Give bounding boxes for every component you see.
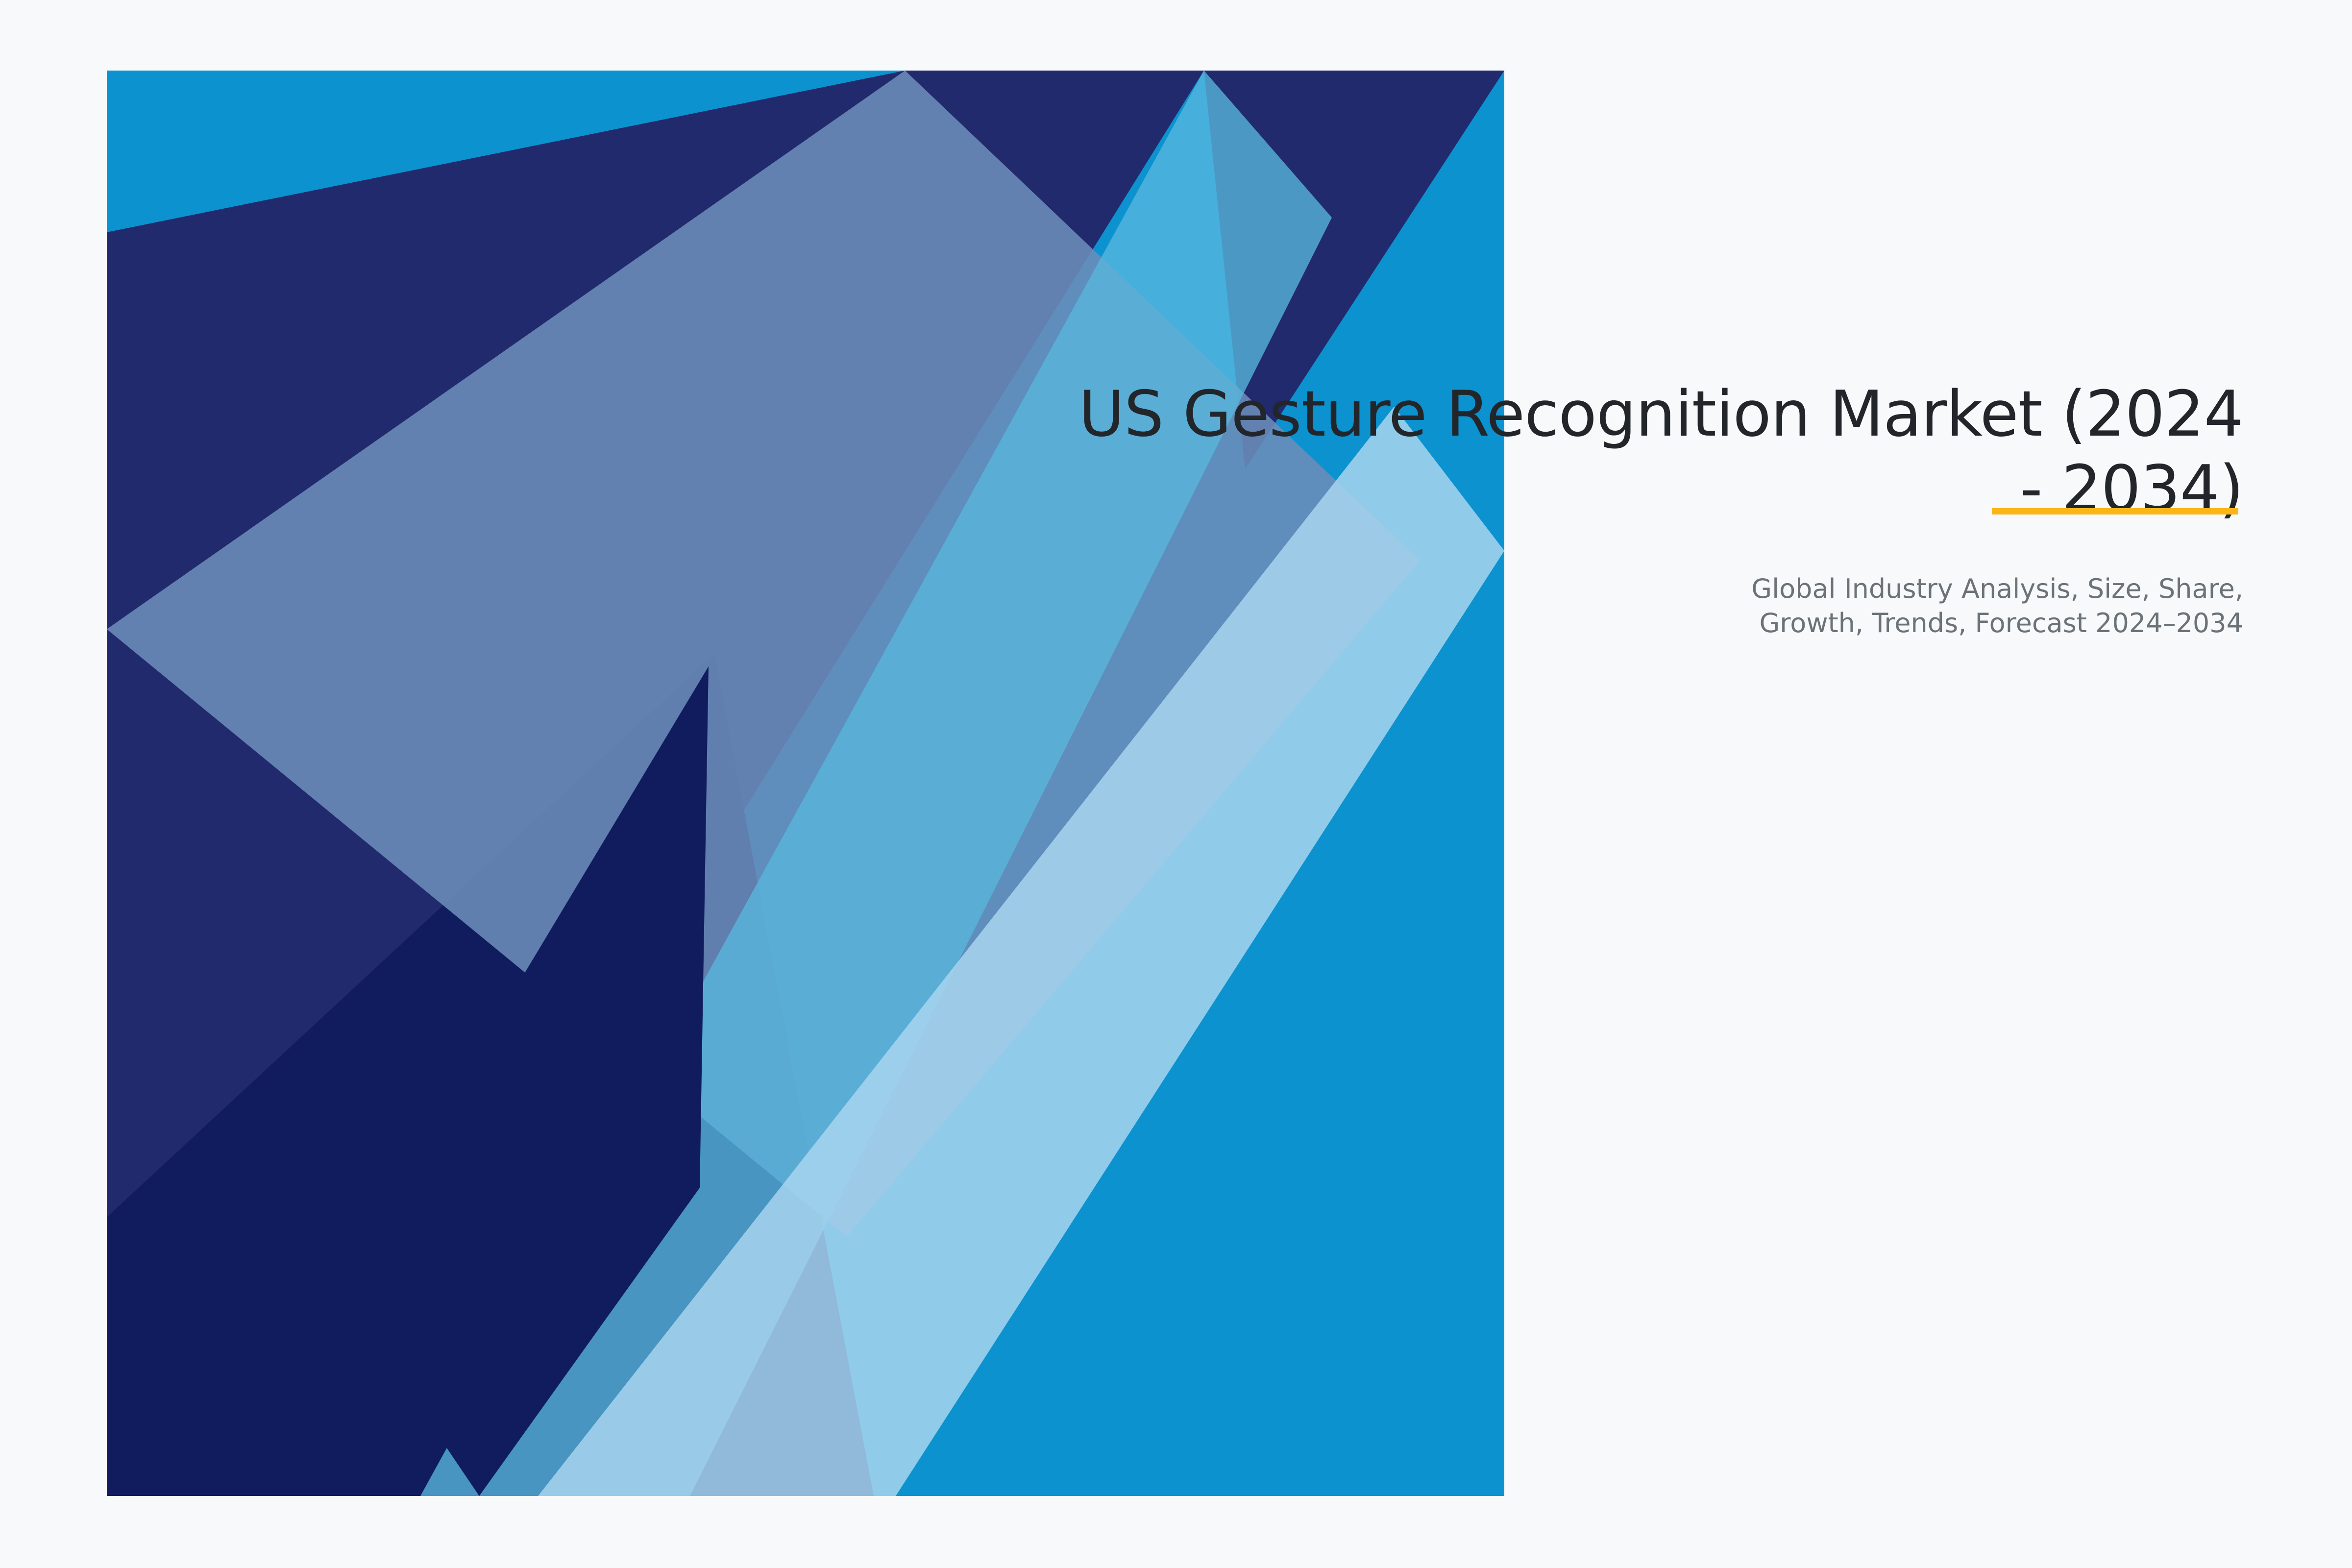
- page-subtitle: Global Industry Analysis, Size, Share, G…: [833, 572, 2243, 640]
- page-title: US Gesture Recognition Market (2024 - 20…: [833, 377, 2243, 527]
- abstract-polygon-graphic: [107, 71, 1504, 1496]
- title-wrapper: US Gesture Recognition Market (2024 - 20…: [833, 377, 2243, 527]
- title-accent-underline: [1992, 508, 2238, 514]
- cover-artwork: [107, 71, 1504, 1496]
- cover-slide: US Gesture Recognition Market (2024 - 20…: [0, 0, 2352, 1568]
- cover-text-block: US Gesture Recognition Market (2024 - 20…: [833, 377, 2243, 640]
